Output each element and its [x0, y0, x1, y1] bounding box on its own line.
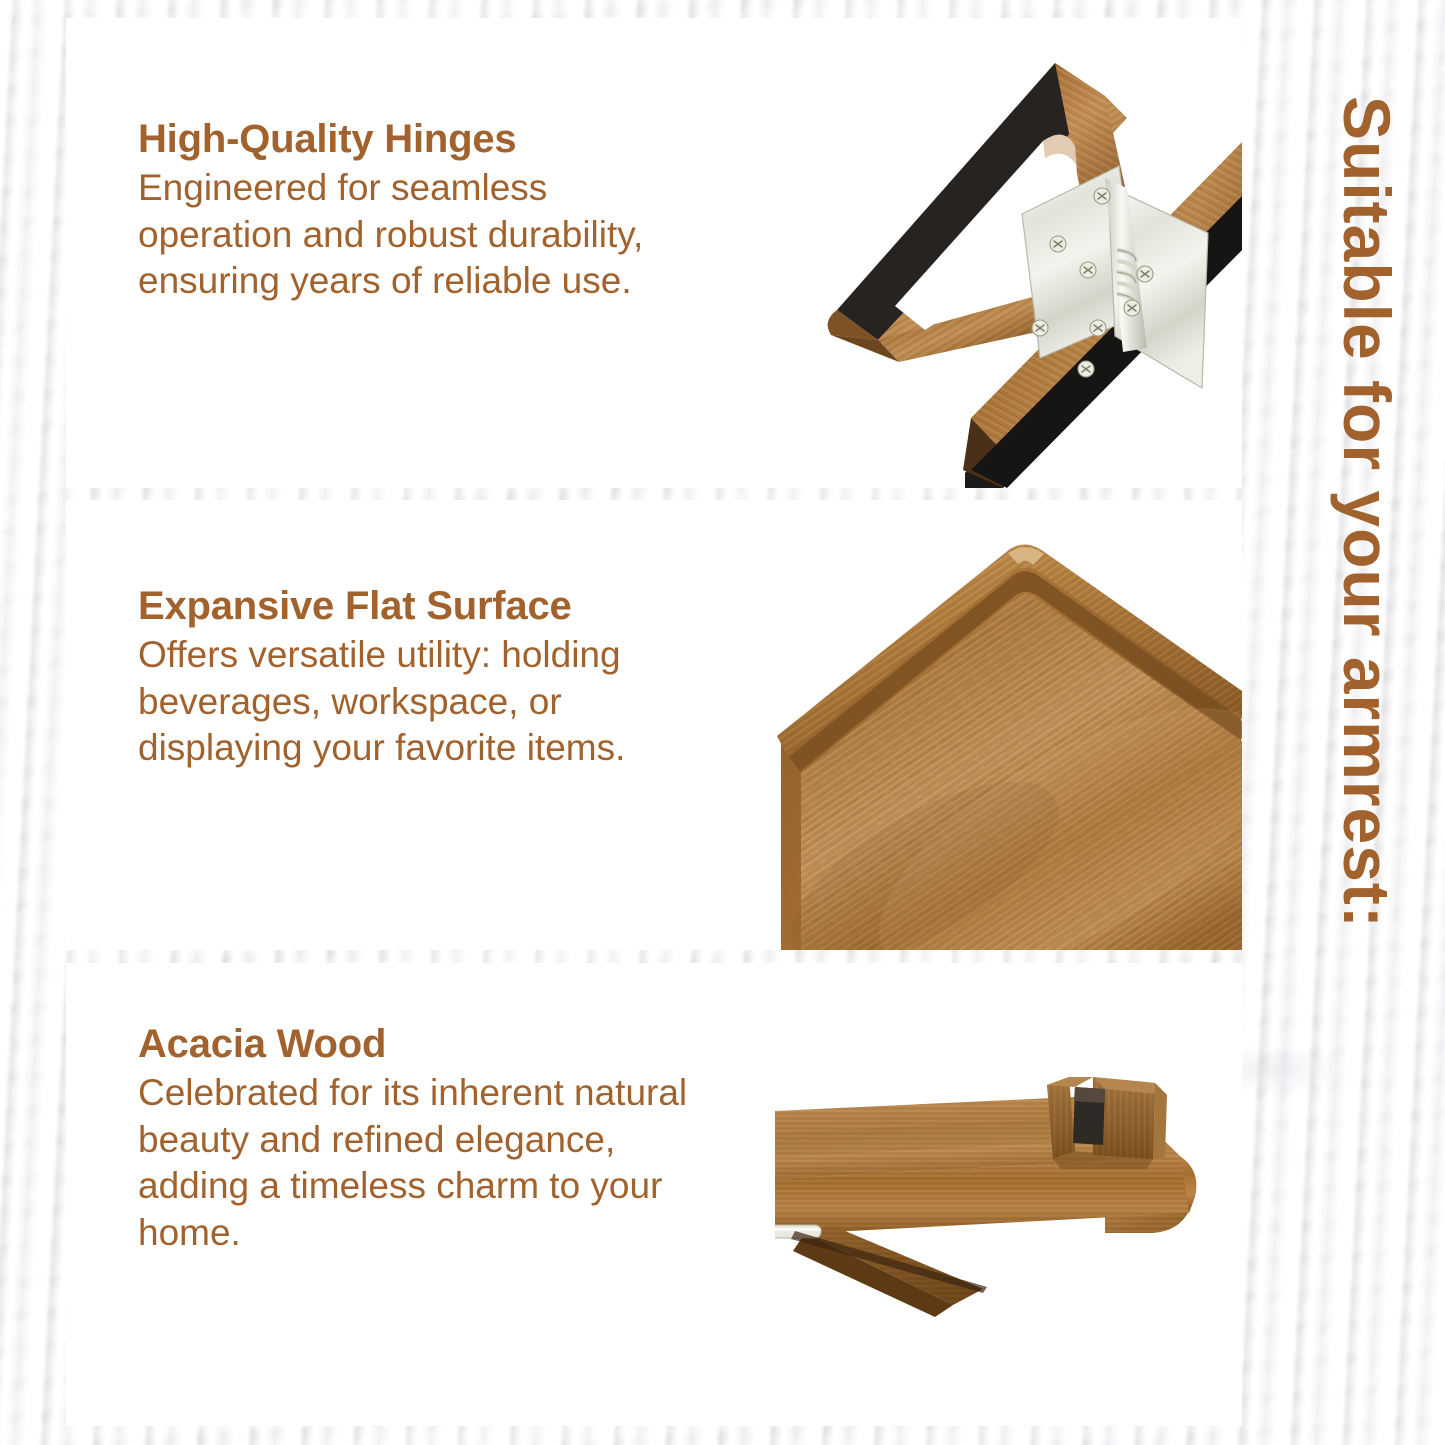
feature-title: High-Quality Hinges: [138, 118, 698, 161]
vertical-headline-text: Suitable for your armrest:: [1329, 96, 1405, 929]
feature-photo-acacia-wood: [775, 1073, 1242, 1323]
feature-text-block: Expansive Flat Surface Offers versatile …: [138, 585, 698, 772]
vertical-headline: Suitable for your armrest:: [1331, 96, 1421, 1366]
feature-title: Expansive Flat Surface: [138, 585, 698, 628]
feature-panel-flat-surface: Expansive Flat Surface Offers versatile …: [66, 500, 1242, 950]
tray-corner-illustration: [775, 543, 1242, 950]
feature-photo-flat-surface: [775, 543, 1242, 950]
hinge-illustration: [775, 18, 1242, 488]
feature-body: Engineered for seamless operation and ro…: [138, 165, 698, 305]
feature-body: Offers versatile utility: holding bevera…: [138, 632, 698, 772]
infographic-canvas: High-Quality Hinges Engineered for seaml…: [0, 0, 1445, 1445]
feature-title: Acacia Wood: [138, 1023, 698, 1066]
feature-body: Celebrated for its inherent natural beau…: [138, 1070, 698, 1256]
feature-photo-hinges: [775, 18, 1242, 488]
feature-panel-acacia-wood: Acacia Wood Celebrated for its inherent …: [66, 963, 1242, 1426]
feature-panel-hinges: High-Quality Hinges Engineered for seaml…: [66, 18, 1242, 488]
tray-profile-illustration: [775, 1073, 1242, 1323]
feature-text-block: High-Quality Hinges Engineered for seaml…: [138, 118, 698, 305]
feature-text-block: Acacia Wood Celebrated for its inherent …: [138, 1023, 698, 1257]
